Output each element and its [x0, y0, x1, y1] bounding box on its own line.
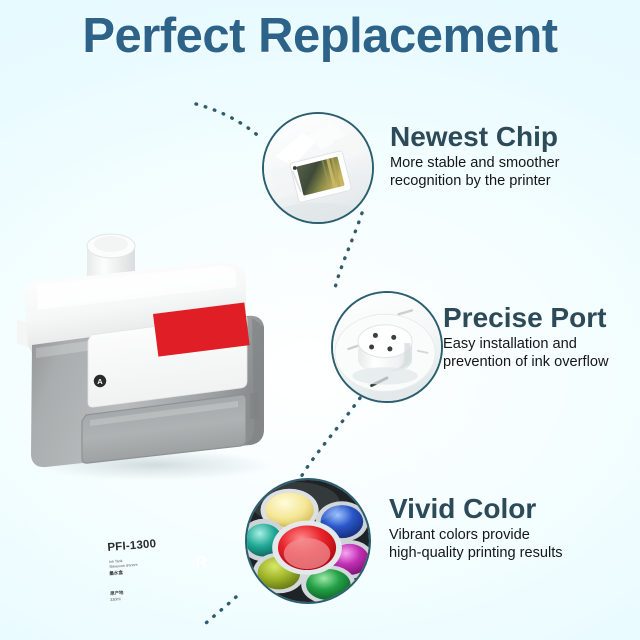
port-hole — [369, 344, 374, 349]
feature-body-port: Easy installation and prevention of ink … — [443, 336, 608, 371]
port-hole — [373, 333, 378, 338]
feature-image-color — [245, 478, 371, 604]
label-model: PFI-1300 — [107, 538, 157, 554]
label-type: Ink Tank Réservoir d'encre — [109, 556, 156, 569]
feature-image-chip — [262, 112, 374, 224]
feature-text-color: Vivid Color Vibrant colors provide high-… — [389, 494, 563, 562]
feature-heading-chip: Newest Chip — [390, 122, 560, 151]
feature-body-color: Vibrant colors provide high-quality prin… — [389, 527, 563, 562]
feature-heading-color: Vivid Color — [389, 494, 563, 523]
feature-image-port — [331, 291, 443, 403]
feature-text-chip: Newest Chip More stable and smoother rec… — [390, 122, 560, 190]
feature-body-chip: More stable and smoother recognition by … — [390, 155, 560, 190]
ink-cartridge: A PFI-1300 Ink Tank Réservoir d'encre 墨水… — [14, 215, 282, 480]
paint-can-red — [272, 521, 342, 575]
chip-pin — [293, 166, 297, 170]
port-hole — [391, 335, 396, 340]
label-type-cjk: 墨水盒 — [109, 570, 123, 577]
connector-port-to-color — [301, 398, 360, 477]
feature-text-port: Precise Port Easy installation and preve… — [443, 303, 608, 371]
connector-color-tail — [206, 597, 236, 623]
connector-chip-to-port — [334, 213, 362, 292]
label-color-code: R — [195, 554, 208, 573]
connector-chip — [196, 104, 262, 139]
page-title: Perfect Replacement — [0, 8, 640, 64]
label-volume: 330ml — [110, 597, 121, 603]
port-hole — [387, 346, 392, 351]
port-top-face — [358, 325, 412, 358]
label-origin-cjk: 原产地 — [110, 590, 124, 597]
svg-text:A: A — [97, 377, 103, 386]
cartridge-side-mark — [250, 393, 259, 419]
product-feature-banner: Perfect Replacement — [0, 0, 640, 640]
feature-heading-port: Precise Port — [443, 303, 608, 332]
